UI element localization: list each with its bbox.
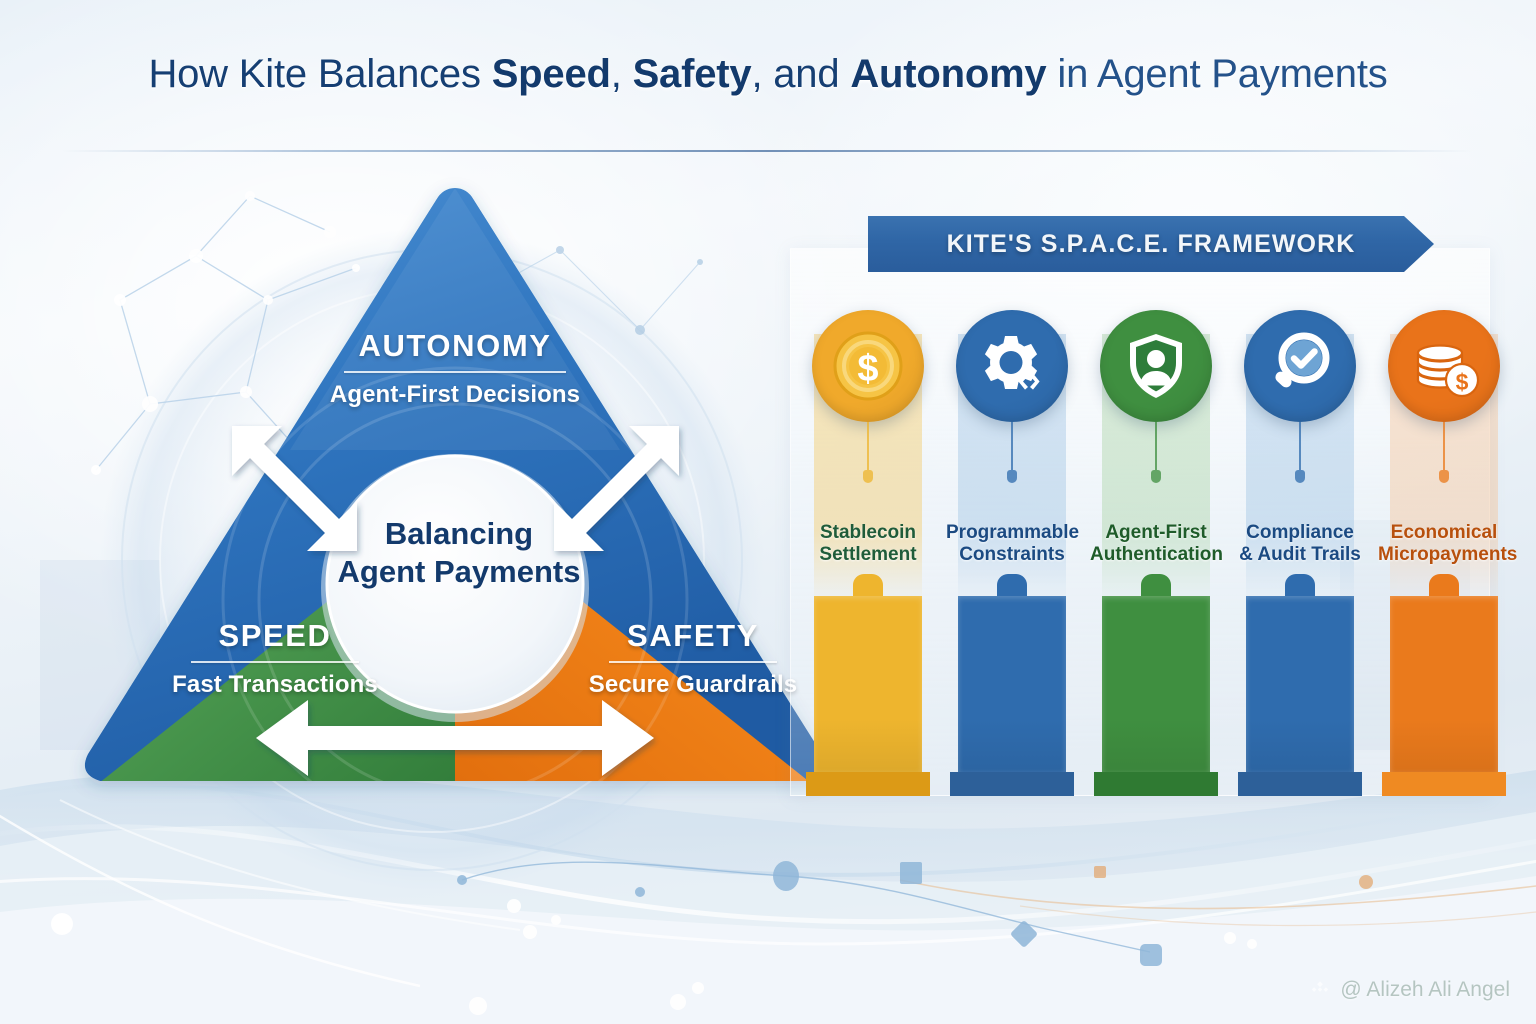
column-label-line-1: Agent-First	[1090, 522, 1222, 544]
column-label-line-2: Constraints	[946, 544, 1078, 566]
coin-stack-dollar-icon[interactable]: $	[1388, 310, 1500, 422]
magnifier-check-icon[interactable]	[1244, 310, 1356, 422]
column-bar[interactable]	[814, 596, 922, 772]
balance-triangle-diagram: AUTONOMY Agent-First Decisions SPEED Fas…	[60, 170, 850, 810]
column-bar[interactable]	[958, 596, 1066, 772]
column-connector	[1299, 422, 1301, 478]
column-bar-notch	[853, 574, 883, 596]
infographic-canvas: How Kite Balances Speed, Safety, and Aut…	[0, 0, 1536, 1024]
title-divider	[62, 150, 1474, 152]
title-bold-safety: Safety	[633, 52, 752, 96]
column-label: ProgrammableConstraints	[946, 522, 1078, 567]
gear-code-icon[interactable]	[956, 310, 1068, 422]
svg-text:$: $	[1456, 369, 1469, 395]
column-bar-notch	[1141, 574, 1171, 596]
shield-person-icon[interactable]	[1100, 310, 1212, 422]
column-bar-notch	[997, 574, 1027, 596]
watermark-text: @ Alizeh Ali Angel	[1340, 978, 1510, 1002]
column-connector	[1155, 422, 1157, 478]
column-label: Compliance& Audit Trails	[1234, 522, 1366, 567]
title-sep-2: , and	[751, 52, 850, 96]
column-connector	[867, 422, 869, 478]
column-connector	[1443, 422, 1445, 478]
space-column-5[interactable]: $ EconomicalMicropayments	[1382, 248, 1506, 796]
column-base	[1094, 772, 1218, 796]
column-bar-notch	[1429, 574, 1459, 596]
diamond-logo-icon	[1309, 979, 1331, 1001]
column-label: StablecoinSettlement	[802, 522, 934, 567]
column-base	[1238, 772, 1362, 796]
column-base	[806, 772, 930, 796]
column-label-line-1: Economical	[1378, 522, 1510, 544]
title-bold-autonomy: Autonomy	[850, 52, 1046, 96]
watermark: @ Alizeh Ali Angel	[1309, 978, 1510, 1002]
page-title: How Kite Balances Speed, Safety, and Aut…	[0, 52, 1536, 97]
column-bar[interactable]	[1390, 596, 1498, 772]
title-bold-speed: Speed	[492, 52, 611, 96]
space-column-3[interactable]: Agent-FirstAuthentication	[1094, 248, 1218, 796]
column-label-line-2: Micropayments	[1378, 544, 1510, 566]
space-column-4[interactable]: Compliance& Audit Trails	[1238, 248, 1362, 796]
column-label: EconomicalMicropayments	[1378, 522, 1510, 567]
space-framework-section: KITE'S S.P.A.C.E. FRAMEWORK $ Stablecoin…	[790, 248, 1490, 796]
column-label: Agent-FirstAuthentication	[1090, 522, 1222, 567]
column-label-line-2: Settlement	[802, 544, 934, 566]
column-label-line-1: Programmable	[946, 522, 1078, 544]
space-columns-container: $ StablecoinSettlement ProgrammableConst…	[790, 248, 1490, 796]
column-base	[1382, 772, 1506, 796]
column-label-line-2: & Audit Trails	[1234, 544, 1366, 566]
column-label-line-1: Compliance	[1234, 522, 1366, 544]
space-column-1[interactable]: $ StablecoinSettlement	[806, 248, 930, 796]
title-sep-1: ,	[611, 52, 633, 96]
title-tail: in Agent Payments	[1046, 52, 1387, 96]
column-base	[950, 772, 1074, 796]
triangle-graphic	[60, 170, 850, 810]
space-column-2[interactable]: ProgrammableConstraints	[950, 248, 1074, 796]
column-bar[interactable]	[1102, 596, 1210, 772]
column-bar-notch	[1285, 574, 1315, 596]
column-bar[interactable]	[1246, 596, 1354, 772]
title-part-1: How Kite Balances	[148, 52, 491, 96]
coin-dollar-icon[interactable]: $	[812, 310, 924, 422]
column-label-line-2: Authentication	[1090, 544, 1222, 566]
column-connector	[1011, 422, 1013, 478]
column-label-line-1: Stablecoin	[802, 522, 934, 544]
svg-text:$: $	[857, 348, 878, 390]
